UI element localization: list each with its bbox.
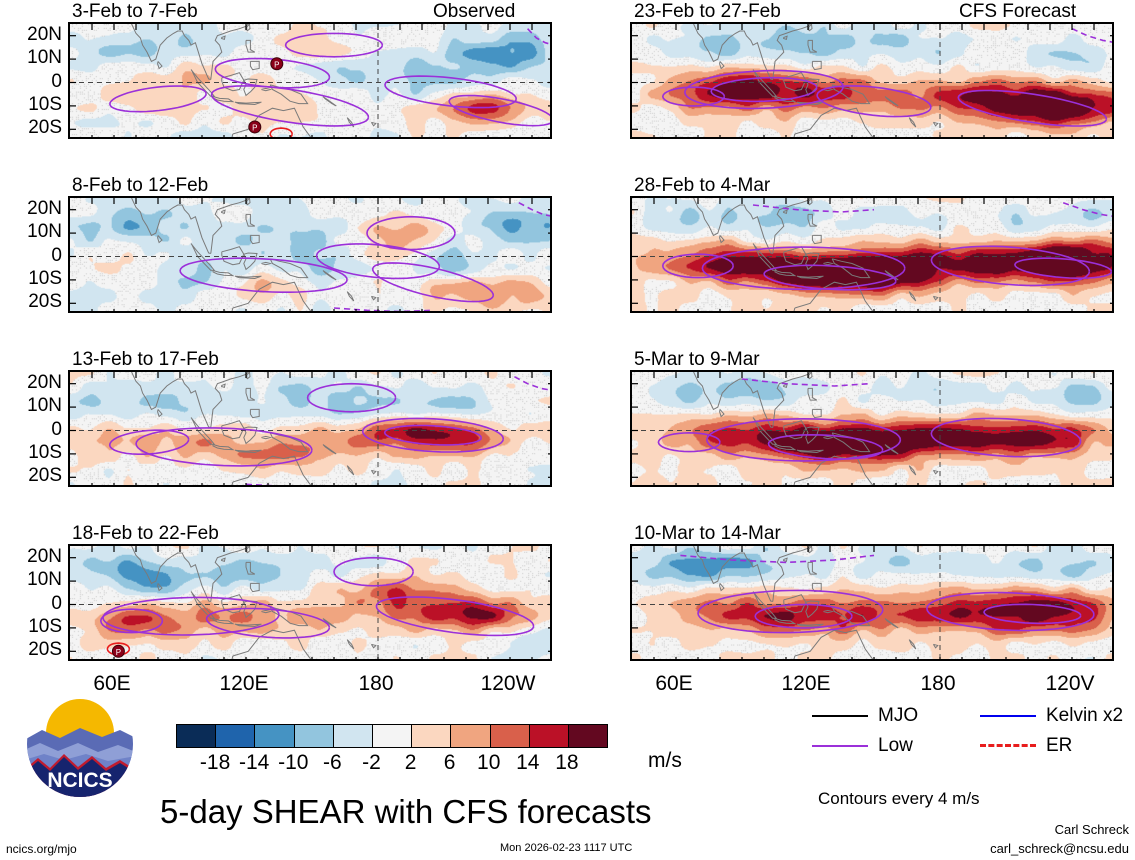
tropical-cyclone-marker: P xyxy=(249,121,261,133)
y-tick-label: 20S xyxy=(28,118,62,137)
contour-interval-note: Contours every 4 m/s xyxy=(818,790,980,807)
low-contour xyxy=(367,217,455,250)
y-axis-labels: 20N10N010S20S xyxy=(4,22,62,139)
y-tick-label: 10N xyxy=(27,222,62,241)
low-contour xyxy=(103,597,279,635)
low-contour xyxy=(927,593,1094,631)
colorbar-tick-label: -6 xyxy=(323,752,342,773)
panel-title: 10-Mar to 14-Mar xyxy=(634,524,781,543)
colorbar-tick-label: 18 xyxy=(555,752,578,773)
low-contour xyxy=(663,254,733,277)
low-contour xyxy=(308,384,396,412)
map-plot-area xyxy=(68,370,552,487)
wave-contours xyxy=(180,203,552,312)
logo-text: NCICS xyxy=(47,769,112,792)
coastlines xyxy=(132,372,376,487)
colorbar-swatch xyxy=(215,725,254,747)
wave-contours xyxy=(663,203,1114,290)
colorbar-swatch xyxy=(529,725,568,747)
colorbar-strip xyxy=(176,724,608,748)
x-tick-label: 180 xyxy=(920,673,955,694)
y-tick-label: 20N xyxy=(27,547,62,566)
x-tick-label: 120V xyxy=(1045,673,1094,694)
low-contour xyxy=(528,29,552,45)
legend-item-low: Low xyxy=(812,736,913,755)
footer-email[interactable]: carl_schreck@ncsu.edu xyxy=(990,842,1129,855)
panel-title: 28-Feb to 4-Mar xyxy=(634,176,770,195)
coastlines xyxy=(694,546,938,661)
colorbar-swatch xyxy=(294,725,333,747)
colorbar-swatch xyxy=(450,725,489,747)
map-plot-area xyxy=(630,544,1114,661)
low-contour xyxy=(658,433,720,452)
low-contour xyxy=(110,86,206,112)
legend-line-swatch xyxy=(812,745,868,747)
y-tick-label: 20N xyxy=(27,373,62,392)
wave-contours xyxy=(101,558,534,655)
map-overlay: PP xyxy=(70,24,552,139)
low-contour xyxy=(984,604,1081,623)
panel-title: 8-Feb to 12-Feb xyxy=(72,176,208,195)
legend-label: ER xyxy=(1046,736,1072,755)
panel-title: 3-Feb to 7-Feb xyxy=(72,2,198,21)
axis-ticks xyxy=(70,372,552,487)
map-overlay xyxy=(632,198,1114,313)
y-tick-label: 10N xyxy=(27,396,62,415)
y-tick-label: 0 xyxy=(51,594,62,613)
low-contour xyxy=(449,96,552,126)
colorbar-swatch xyxy=(372,725,411,747)
y-tick-label: 0 xyxy=(51,246,62,265)
legend-item-er: ER xyxy=(980,736,1072,755)
y-axis-labels: 20N10N010S20S xyxy=(4,370,62,487)
panel-title: 18-Feb to 22-Feb xyxy=(72,524,219,543)
map-plot-area: P xyxy=(68,544,552,661)
low-contour xyxy=(101,609,163,632)
low-contour xyxy=(958,91,1106,127)
low-contour xyxy=(334,558,413,586)
footer-timestamp: Mon 2026-02-23 1117 UTC xyxy=(500,843,632,854)
ncics-logo: NCICS xyxy=(24,688,136,800)
y-tick-label: 10S xyxy=(28,617,62,636)
coastlines xyxy=(132,546,376,661)
map-plot-area xyxy=(630,196,1114,313)
low-contour xyxy=(373,263,494,302)
low-contour xyxy=(286,33,383,56)
tropical-cyclone-marker: P xyxy=(112,645,124,657)
legend-item-mjo: MJO xyxy=(812,706,918,725)
y-tick-label: 0 xyxy=(51,72,62,91)
figure-title: 5-day SHEAR with CFS forecasts xyxy=(160,795,652,828)
y-tick-label: 10S xyxy=(28,269,62,288)
colorbar-swatch xyxy=(568,725,607,747)
y-axis-labels: 20N10N010S20S xyxy=(4,196,62,313)
y-tick-label: 10S xyxy=(28,443,62,462)
y-tick-label: 20S xyxy=(28,466,62,485)
low-contour xyxy=(519,203,552,217)
coastlines xyxy=(132,198,376,313)
coastlines xyxy=(694,372,938,487)
panel-title: 5-Mar to 9-Mar xyxy=(634,350,760,369)
map-plot-area xyxy=(68,196,552,313)
map-overlay xyxy=(632,546,1114,661)
observed-tag: Observed xyxy=(433,2,515,21)
low-contour xyxy=(931,246,1089,285)
map-plot-area xyxy=(630,370,1114,487)
colorbar-tick-label: 6 xyxy=(444,752,456,773)
low-contour xyxy=(334,308,433,312)
y-tick-label: 10S xyxy=(28,95,62,114)
colorbar-swatch xyxy=(177,725,215,747)
colorbar-tick-label: 14 xyxy=(516,752,539,773)
low-contour xyxy=(817,86,931,117)
legend-line-swatch xyxy=(980,715,1036,717)
low-contour xyxy=(931,418,1080,456)
y-tick-label: 0 xyxy=(51,420,62,439)
map-overlay: P xyxy=(70,546,552,661)
axis-ticks xyxy=(632,198,1114,313)
colorbar-tick-label: -18 xyxy=(200,752,230,773)
footer-author: Carl Schreck xyxy=(1055,823,1129,836)
colorbar-swatch xyxy=(490,725,529,747)
colorbar-swatch xyxy=(254,725,293,747)
low-contour xyxy=(753,205,874,212)
x-tick-label: 120E xyxy=(781,673,830,694)
colorbar-tick-label: 2 xyxy=(405,752,417,773)
svg-text:P: P xyxy=(116,648,121,657)
colorbar-tick-label: -10 xyxy=(278,752,308,773)
y-tick-label: 10N xyxy=(27,570,62,589)
low-contour xyxy=(385,426,482,445)
y-tick-label: 10N xyxy=(27,48,62,67)
low-contour xyxy=(698,590,883,632)
axis-ticks xyxy=(70,198,552,313)
map-overlay xyxy=(70,372,552,487)
contour-legend: MJOKelvin x2LowER xyxy=(812,706,1122,766)
y-tick-label: 20N xyxy=(27,199,62,218)
colorbar-units-label: m/s xyxy=(648,750,682,771)
low-contour xyxy=(376,597,533,635)
axis-ticks xyxy=(632,372,1114,487)
low-contour xyxy=(1072,29,1114,43)
low-contour xyxy=(663,87,725,106)
panel-title: 23-Feb to 27-Feb xyxy=(634,2,781,21)
er-contour xyxy=(270,128,292,139)
coastlines xyxy=(694,198,938,313)
legend-item-kelvin-x2: Kelvin x2 xyxy=(980,706,1123,725)
map-overlay xyxy=(70,198,552,313)
axis-ticks xyxy=(632,24,1114,139)
tropical-cyclone-marker: P xyxy=(271,58,283,70)
panel-title: 13-Feb to 17-Feb xyxy=(72,350,219,369)
axis-ticks xyxy=(70,24,552,139)
map-plot-area xyxy=(630,22,1114,139)
low-contour xyxy=(1063,203,1114,217)
colorbar-swatch xyxy=(411,725,450,747)
y-tick-label: 20S xyxy=(28,292,62,311)
legend-line-swatch xyxy=(812,715,868,717)
colorbar-tick-label: -2 xyxy=(362,752,381,773)
legend-line-swatch xyxy=(980,744,1036,747)
y-tick-label: 20S xyxy=(28,640,62,659)
wave-contours xyxy=(663,29,1114,126)
legend-label: MJO xyxy=(878,706,918,725)
axis-ticks xyxy=(632,546,1114,661)
low-contour xyxy=(514,377,552,391)
low-contour xyxy=(742,379,870,386)
colorbar-tick-label: 10 xyxy=(477,752,500,773)
low-contour xyxy=(1015,258,1112,278)
map-overlay xyxy=(632,24,1114,139)
colorbar-tick-label: -14 xyxy=(239,752,269,773)
footer-site[interactable]: ncics.org/mjo xyxy=(6,843,77,855)
y-tick-label: 20N xyxy=(27,25,62,44)
map-overlay xyxy=(632,372,1114,487)
y-axis-labels: 20N10N010S20S xyxy=(4,544,62,661)
wave-contours xyxy=(110,377,552,487)
legend-label: Low xyxy=(878,736,913,755)
low-contour xyxy=(212,86,369,126)
wave-contours xyxy=(658,379,1080,461)
wave-contours xyxy=(110,29,552,139)
colorbar-ticks: -18-14-10-6-226101418 xyxy=(176,752,606,776)
colorbar-swatch xyxy=(333,725,372,747)
map-plot-area: PP xyxy=(68,22,552,139)
svg-text:P: P xyxy=(274,60,279,69)
cfs-forecast-tag: CFS Forecast xyxy=(959,2,1076,21)
legend-label: Kelvin x2 xyxy=(1046,706,1123,725)
low-contour xyxy=(764,265,896,290)
svg-text:P: P xyxy=(252,123,257,132)
low-contour xyxy=(363,418,504,452)
